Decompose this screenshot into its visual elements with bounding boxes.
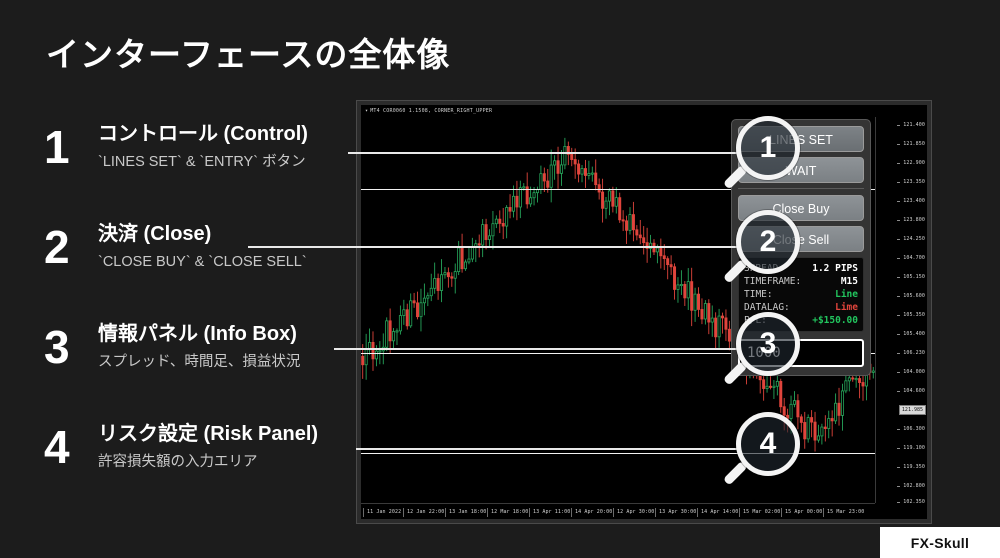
info-value: Line bbox=[835, 288, 858, 301]
magnifier-number: 3 bbox=[760, 329, 777, 359]
time-tick: 12 Mar 18:00 bbox=[487, 508, 528, 517]
price-tick: 106.230 bbox=[903, 350, 925, 356]
current-price-badge: 121.985 bbox=[899, 405, 926, 415]
price-axis[interactable]: 121.400 121.850 122.900 123.350 123.400 … bbox=[875, 117, 927, 503]
connector-line-1 bbox=[348, 152, 740, 154]
time-tick: 12 Apr 30:00 bbox=[613, 508, 654, 517]
price-tick: 124.250 bbox=[903, 236, 925, 242]
chart-header-label: ▾MT4 COR0060 1.1508, CORNER_RIGHT_UPPER bbox=[365, 108, 492, 114]
magnifier-number: 4 bbox=[760, 429, 777, 459]
footer-logo: FX-Skull bbox=[880, 527, 1000, 558]
info-value: 1.2 PIPS bbox=[812, 262, 858, 275]
list-item-title: リスク設定 (Risk Panel) bbox=[98, 422, 374, 447]
list-item-subtitle: `CLOSE BUY` & `CLOSE SELL` bbox=[98, 253, 374, 272]
price-tick: 105.400 bbox=[903, 331, 925, 337]
list-item-subtitle: `LINES SET` & `ENTRY` ボタン bbox=[98, 153, 374, 172]
time-tick: 13 Jan 18:00 bbox=[445, 508, 486, 517]
price-tick: 122.900 bbox=[903, 160, 925, 166]
time-tick: 15 Apr 00:00 bbox=[781, 508, 822, 517]
magnifier-lens-icon: 3 bbox=[736, 312, 800, 376]
list-item-number: 2 bbox=[44, 224, 88, 270]
price-tick: 121.850 bbox=[903, 141, 925, 147]
magnifier-callout-4: 4 bbox=[736, 412, 810, 486]
price-tick: 105.150 bbox=[903, 274, 925, 280]
price-tick: 123.350 bbox=[903, 179, 925, 185]
list-item-title: 情報パネル (Info Box) bbox=[98, 322, 374, 347]
magnifier-lens-icon: 2 bbox=[736, 210, 800, 274]
slide-root: インターフェースの全体像 1 コントロール (Control) `LINES S… bbox=[0, 0, 1000, 558]
price-tick: 119.350 bbox=[903, 464, 925, 470]
time-tick: 11 Jan 2022 bbox=[363, 508, 401, 517]
list-item-number: 1 bbox=[44, 124, 88, 170]
price-tick: 123.800 bbox=[903, 217, 925, 223]
connector-line-4 bbox=[356, 448, 740, 450]
time-tick: 15 Mar 02:00 bbox=[739, 508, 780, 517]
time-tick: 13 Apr 30:00 bbox=[655, 508, 696, 517]
price-tick: 102.350 bbox=[903, 499, 925, 505]
connector-line-3 bbox=[334, 348, 740, 350]
price-tick: 123.400 bbox=[903, 198, 925, 204]
info-row-time: TIME: Line bbox=[744, 288, 858, 301]
info-value: Lime bbox=[835, 301, 858, 314]
magnifier-callout-2: 2 bbox=[736, 210, 810, 284]
list-item: 3 情報パネル (Info Box) スプレッド、時間足、損益状況 bbox=[44, 322, 374, 422]
price-tick: 106.300 bbox=[903, 426, 925, 432]
chart-symbol-text: MT4 COR0060 1.1508, CORNER_RIGHT_UPPER bbox=[370, 108, 492, 114]
time-tick: 14 Apr 14:00 bbox=[697, 508, 738, 517]
price-tick: 105.600 bbox=[903, 293, 925, 299]
time-tick: 12 Jan 22:00 bbox=[403, 508, 444, 517]
price-tick: 121.400 bbox=[903, 122, 925, 128]
list-item: 1 コントロール (Control) `LINES SET` & `ENTRY`… bbox=[44, 122, 374, 222]
price-tick: 104.000 bbox=[903, 369, 925, 375]
magnifier-lens-icon: 1 bbox=[736, 116, 800, 180]
footer-logo-text: FX-Skull bbox=[911, 535, 969, 551]
info-label: TIME: bbox=[744, 288, 773, 301]
price-tick: 104.600 bbox=[903, 388, 925, 394]
magnifier-callout-3: 3 bbox=[736, 312, 810, 386]
list-item-title: 決済 (Close) bbox=[98, 222, 374, 247]
list-item: 4 リスク設定 (Risk Panel) 許容損失額の入力エリア bbox=[44, 422, 374, 522]
time-tick: 14 Apr 20:00 bbox=[571, 508, 612, 517]
magnifier-callout-1: 1 bbox=[736, 116, 810, 190]
info-value: +$150.00 bbox=[812, 314, 858, 327]
list-item-number: 3 bbox=[44, 324, 88, 370]
price-tick: 102.800 bbox=[903, 483, 925, 489]
connector-line-2 bbox=[248, 246, 740, 248]
magnifier-number: 2 bbox=[760, 227, 777, 257]
list-item-title: コントロール (Control) bbox=[98, 122, 374, 147]
price-tick: 105.350 bbox=[903, 312, 925, 318]
time-axis[interactable]: 11 Jan 2022 12 Jan 22:00 13 Jan 18:00 12… bbox=[361, 503, 875, 519]
page-title: インターフェースの全体像 bbox=[46, 28, 450, 76]
feature-list: 1 コントロール (Control) `LINES SET` & `ENTRY`… bbox=[44, 122, 374, 522]
price-tick: 119.100 bbox=[903, 445, 925, 451]
list-item-number: 4 bbox=[44, 424, 88, 470]
chevron-down-icon: ▾ bbox=[365, 108, 368, 114]
list-item: 2 決済 (Close) `CLOSE BUY` & `CLOSE SELL` bbox=[44, 222, 374, 322]
list-item-subtitle: スプレッド、時間足、損益状況 bbox=[98, 353, 374, 372]
time-tick: 15 Mar 23:00 bbox=[823, 508, 864, 517]
time-tick: 13 Apr 11:00 bbox=[529, 508, 570, 517]
price-tick: 104.700 bbox=[903, 255, 925, 261]
chart-canvas[interactable]: ▾MT4 COR0060 1.1508, CORNER_RIGHT_UPPER … bbox=[361, 105, 927, 519]
magnifier-lens-icon: 4 bbox=[736, 412, 800, 476]
list-item-subtitle: 許容損失額の入力エリア bbox=[98, 453, 374, 472]
magnifier-number: 1 bbox=[760, 133, 777, 163]
chart-window: ▾MT4 COR0060 1.1508, CORNER_RIGHT_UPPER … bbox=[356, 100, 932, 524]
info-value: M15 bbox=[841, 275, 858, 288]
